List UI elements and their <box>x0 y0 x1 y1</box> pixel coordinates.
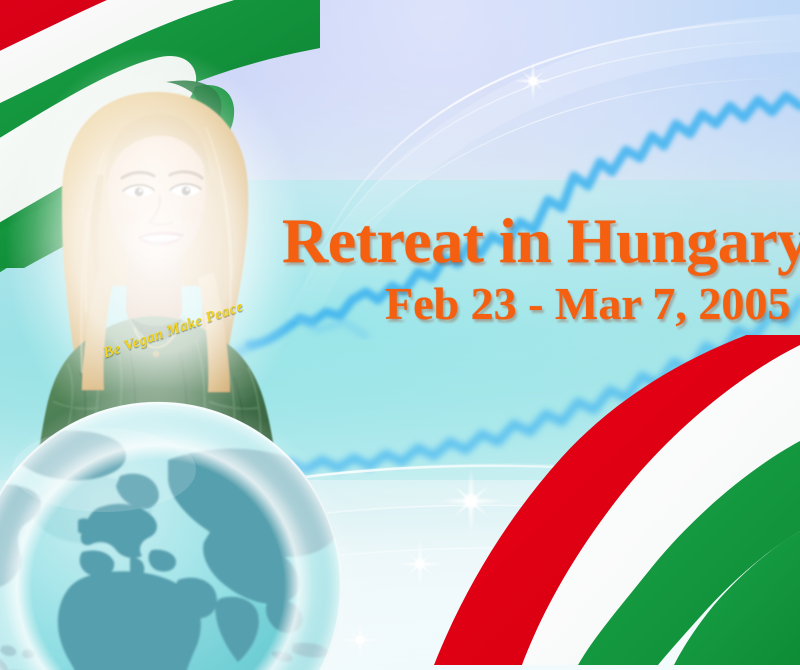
earth-globe <box>0 400 344 670</box>
poster-canvas: Be Vegan Make Peace <box>0 0 800 670</box>
hungarian-flag-band-bottom-right <box>380 335 800 670</box>
